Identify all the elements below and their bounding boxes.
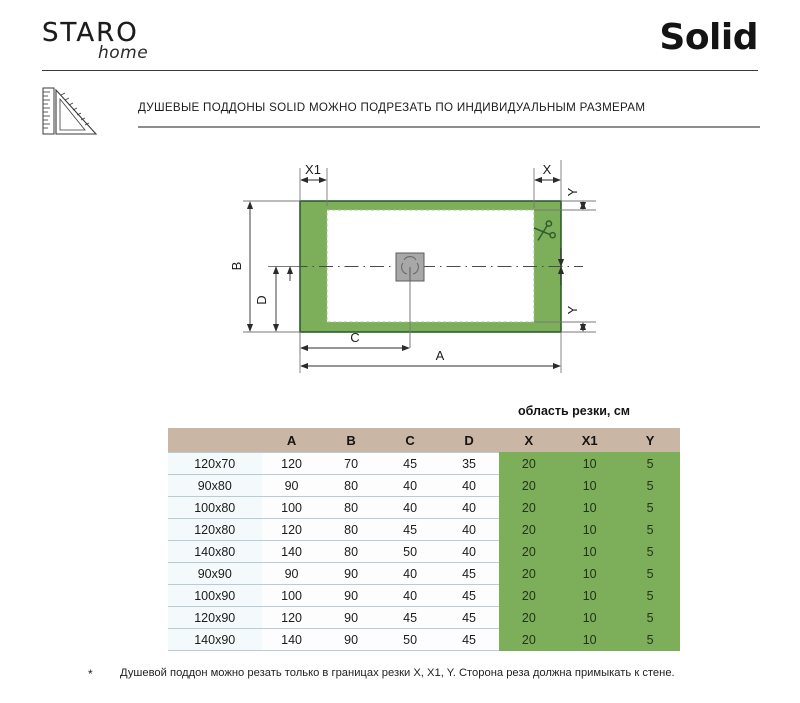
product-line-title: Solid	[659, 17, 758, 58]
cell-d: 45	[440, 607, 499, 629]
cell-x: 20	[499, 475, 560, 497]
cell-y: 5	[620, 541, 680, 563]
cell-x: 20	[499, 563, 560, 585]
cell-size: 140x80	[168, 541, 262, 563]
cell-b: 90	[322, 563, 381, 585]
cell-x: 20	[499, 585, 560, 607]
cell-size: 100x80	[168, 497, 262, 519]
dimension-b-label: B	[229, 262, 244, 271]
cell-d: 45	[440, 629, 499, 651]
table-row: 140x9014090504520105	[168, 629, 680, 651]
cell-d: 35	[440, 453, 499, 475]
dimension-x-label: X	[543, 162, 552, 177]
table-row: 120x7012070453520105	[168, 453, 680, 475]
cell-x1: 10	[559, 519, 620, 541]
cell-c: 45	[381, 453, 440, 475]
dimension-d-label: D	[254, 295, 269, 304]
cell-b: 80	[322, 519, 381, 541]
table-row: 100x8010080404020105	[168, 497, 680, 519]
column-header-d: D	[440, 428, 499, 453]
tagline-label: ДУШЕВЫЕ ПОДДОНЫ SOLID МОЖНО ПОДРЕЗАТЬ ПО…	[138, 101, 645, 114]
tagline-divider	[138, 126, 760, 128]
cell-size: 90x90	[168, 563, 262, 585]
cell-a: 140	[262, 629, 322, 651]
cell-y: 5	[620, 453, 680, 475]
drain-icon	[396, 253, 424, 281]
cell-d: 45	[440, 563, 499, 585]
cell-d: 40	[440, 541, 499, 563]
dimension-c-label: C	[350, 330, 359, 345]
table-row: 90x809080404020105	[168, 475, 680, 497]
header-divider	[42, 70, 758, 71]
cell-a: 100	[262, 497, 322, 519]
cell-y: 5	[620, 629, 680, 651]
cell-b: 90	[322, 585, 381, 607]
dimension-a	[300, 333, 561, 373]
logo-home-text: home	[98, 43, 148, 63]
cell-x: 20	[499, 629, 560, 651]
cell-b: 80	[322, 541, 381, 563]
table-row: 120x9012090454520105	[168, 607, 680, 629]
shower-tray-diagram: X1 X Y Y	[0, 150, 800, 390]
cell-c: 40	[381, 475, 440, 497]
table-row: 120x8012080454020105	[168, 519, 680, 541]
cell-c: 40	[381, 563, 440, 585]
cell-x1: 10	[559, 563, 620, 585]
table-row: 100x9010090404520105	[168, 585, 680, 607]
cell-size: 140x90	[168, 629, 262, 651]
cell-y: 5	[620, 519, 680, 541]
cell-y: 5	[620, 607, 680, 629]
cell-size: 90x80	[168, 475, 262, 497]
cell-x: 20	[499, 453, 560, 475]
cell-b: 90	[322, 629, 381, 651]
cell-a: 120	[262, 453, 322, 475]
cell-c: 50	[381, 541, 440, 563]
cell-y: 5	[620, 563, 680, 585]
column-header-size	[168, 428, 262, 453]
cell-a: 120	[262, 607, 322, 629]
cell-d: 40	[440, 497, 499, 519]
cell-a: 90	[262, 563, 322, 585]
cell-d: 45	[440, 585, 499, 607]
cell-x1: 10	[559, 607, 620, 629]
table-row: 140x8014080504020105	[168, 541, 680, 563]
cell-size: 120x90	[168, 607, 262, 629]
brand-logo: STARO home	[42, 18, 282, 70]
cell-y: 5	[620, 585, 680, 607]
cell-x1: 10	[559, 541, 620, 563]
cell-y: 5	[620, 497, 680, 519]
column-header-a: A	[262, 428, 322, 453]
cell-x1: 10	[559, 629, 620, 651]
dimension-y-top-label: Y	[565, 187, 580, 196]
dimension-x1-label: X1	[305, 162, 321, 177]
tagline-row: ДУШЕВЫЕ ПОДДОНЫ SOLID МОЖНО ПОДРЕЗАТЬ ПО…	[0, 82, 800, 144]
cell-b: 90	[322, 607, 381, 629]
dimension-y-bottom-label: Y	[565, 305, 580, 314]
cell-b: 70	[322, 453, 381, 475]
cell-d: 40	[440, 475, 499, 497]
cell-y: 5	[620, 475, 680, 497]
column-header-x1: X1	[559, 428, 620, 453]
cell-x: 20	[499, 519, 560, 541]
cell-c: 45	[381, 607, 440, 629]
cell-a: 90	[262, 475, 322, 497]
cell-a: 100	[262, 585, 322, 607]
cell-a: 140	[262, 541, 322, 563]
footnote-marker: *	[88, 667, 93, 681]
column-header-c: C	[381, 428, 440, 453]
cell-x: 20	[499, 497, 560, 519]
cell-c: 50	[381, 629, 440, 651]
column-header-y: Y	[620, 428, 680, 453]
cell-size: 120x70	[168, 453, 262, 475]
cell-x1: 10	[559, 453, 620, 475]
cell-c: 40	[381, 497, 440, 519]
dimension-d	[268, 267, 299, 333]
cell-c: 40	[381, 585, 440, 607]
cell-d: 40	[440, 519, 499, 541]
cell-x1: 10	[559, 585, 620, 607]
column-header-x: X	[499, 428, 560, 453]
ruler-triangle-icon	[38, 86, 108, 138]
cell-a: 120	[262, 519, 322, 541]
table-row: 90x909090404520105	[168, 563, 680, 585]
cell-b: 80	[322, 475, 381, 497]
page-header: STARO home Solid	[0, 0, 800, 82]
cell-x1: 10	[559, 497, 620, 519]
column-header-b: B	[322, 428, 381, 453]
footnote-text: Душевой поддон можно резать только в гра…	[120, 666, 780, 681]
cell-c: 45	[381, 519, 440, 541]
cell-x: 20	[499, 607, 560, 629]
table-header-row: A B C D X X1 Y	[168, 428, 680, 453]
cell-size: 100x90	[168, 585, 262, 607]
dimension-a-label: A	[436, 348, 445, 363]
cell-size: 120x80	[168, 519, 262, 541]
cell-b: 80	[322, 497, 381, 519]
cell-x: 20	[499, 541, 560, 563]
specification-table: A B C D X X1 Y 120x701207045352010590x80…	[168, 428, 680, 651]
cell-x1: 10	[559, 475, 620, 497]
cut-area-caption: область резки, см	[468, 404, 680, 418]
